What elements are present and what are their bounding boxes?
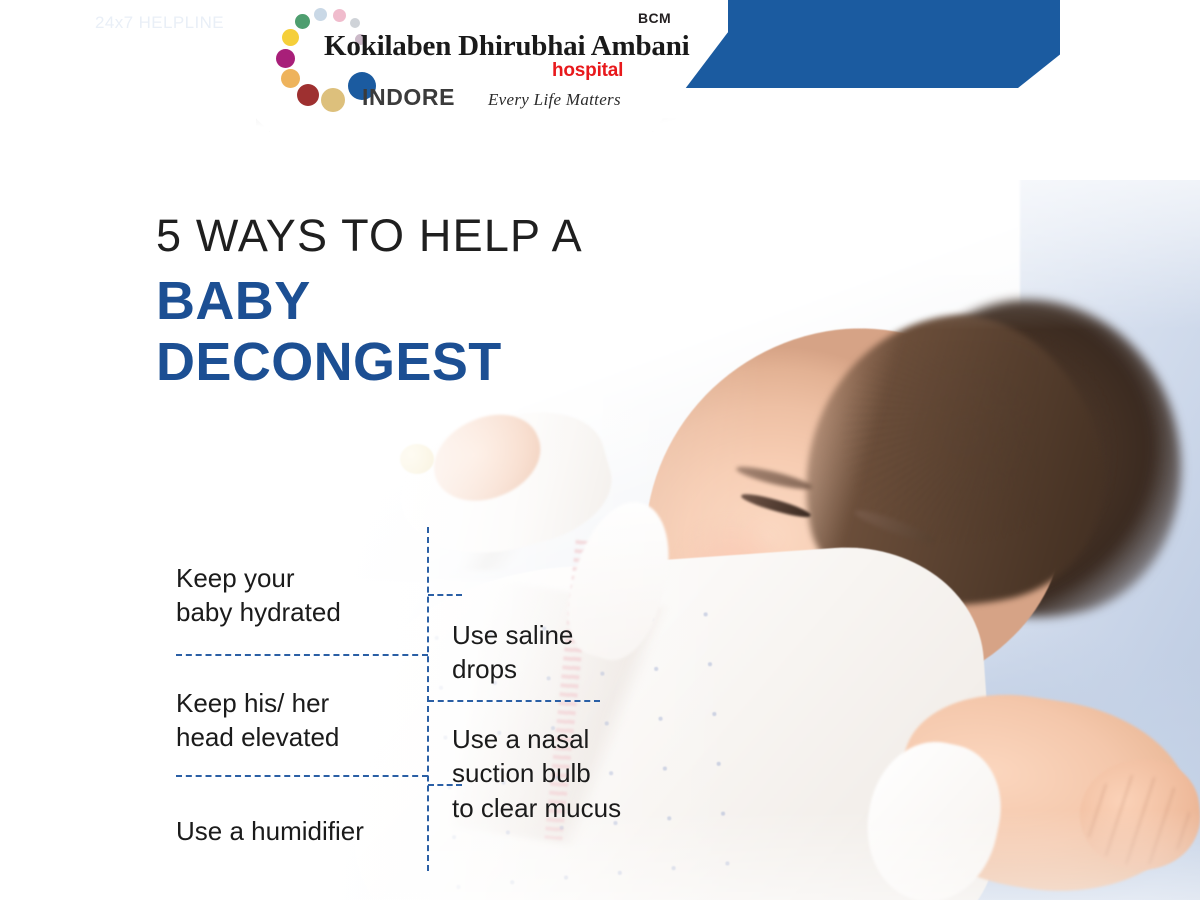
tip-line: baby hydrated — [176, 595, 341, 629]
tip-use-humidifier: Use a humidifier — [176, 814, 364, 848]
tips-diagram: Keep your baby hydrated Keep his/ her he… — [0, 0, 1200, 900]
connector-vertical-line — [427, 527, 429, 871]
tip-line: head elevated — [176, 720, 339, 754]
tip-line: Keep your — [176, 561, 341, 595]
tip-nasal-suction-bulb: Use a nasal suction bulb to clear mucus — [452, 722, 621, 825]
tip-head-elevated: Keep his/ her head elevated — [176, 686, 339, 755]
tip-line: Use a humidifier — [176, 814, 364, 848]
tip-line: to clear mucus — [452, 791, 621, 825]
tip-line: suction bulb — [452, 756, 621, 790]
connector-right-stub-1 — [428, 594, 462, 596]
connector-left-line-2 — [176, 775, 428, 777]
tip-line: Keep his/ her — [176, 686, 339, 720]
connector-right-line-1 — [428, 700, 600, 702]
connector-left-line-1 — [176, 654, 428, 656]
tip-line: drops — [452, 652, 573, 686]
tip-saline-drops: Use saline drops — [452, 618, 573, 687]
tip-line: Use a nasal — [452, 722, 621, 756]
tip-line: Use saline — [452, 618, 573, 652]
poster-canvas: 24x7 HELPLINE 0731-481-1111 BCM Kokilabe… — [0, 0, 1200, 900]
tip-keep-hydrated: Keep your baby hydrated — [176, 561, 341, 630]
